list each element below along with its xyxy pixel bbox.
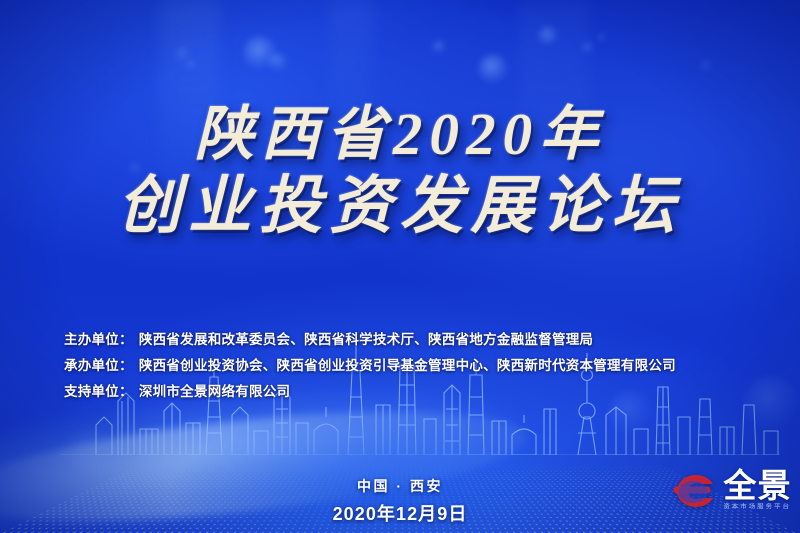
organizer-label: 支持单位： [64, 379, 133, 405]
title-line-2: 创业投资发展论坛 [0, 174, 800, 238]
e-swirl-logo-icon [663, 465, 719, 515]
logo-text-block: 全景 资本市场服务平台 [723, 469, 792, 512]
organizer-value: 深圳市全景网络有限公司 [139, 379, 290, 405]
organizer-value: 陕西省创业投资协会、陕西省创业投资引导基金管理中心、陕西新时代资本管理有限公司 [139, 353, 676, 379]
organizer-label: 主办单位： [64, 327, 133, 353]
logo-name: 全景 [723, 469, 792, 502]
organizer-value: 陕西省发展和改革委员会、陕西省科学技术厅、陕西省地方金融监督管理局 [139, 327, 593, 353]
logo-tagline: 资本市场服务平台 [723, 505, 792, 511]
sponsor-logo: 全景 资本市场服务平台 [663, 465, 792, 515]
organizer-row: 主办单位： 陕西省发展和改革委员会、陕西省科学技术厅、陕西省地方金融监督管理局 [64, 327, 754, 353]
organizer-row: 支持单位： 深圳市全景网络有限公司 [64, 379, 754, 405]
poster-title: 陕西省2020年 创业投资发展论坛 [0, 104, 800, 238]
organizer-label: 承办单位： [64, 353, 133, 379]
organizer-row: 承办单位： 陕西省创业投资协会、陕西省创业投资引导基金管理中心、陕西新时代资本管… [64, 353, 754, 379]
title-line-1: 陕西省2020年 [0, 104, 800, 164]
poster-backdrop: 陕西省2020年 创业投资发展论坛 主办单位： 陕西省发展和改革委员会、陕西省科… [0, 0, 800, 533]
vignette-overlay [0, 0, 800, 533]
organizer-list: 主办单位： 陕西省发展和改革委员会、陕西省科学技术厅、陕西省地方金融监督管理局 … [64, 327, 754, 405]
